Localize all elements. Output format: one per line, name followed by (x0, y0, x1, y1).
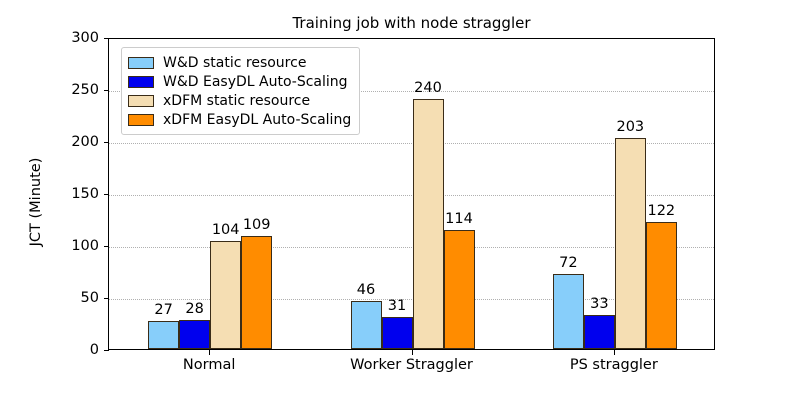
bar (413, 99, 444, 349)
x-tick-label: Worker Straggler (350, 357, 473, 373)
legend-swatch-icon (128, 76, 154, 88)
y-tick-mark (104, 350, 109, 351)
bar (584, 315, 615, 349)
plot-area: 272810410946312401147233203122 W&D stati… (108, 38, 715, 350)
x-tick-label: PS straggler (570, 357, 658, 373)
y-tick-label: 200 (39, 134, 99, 150)
y-tick-label: 250 (39, 82, 99, 98)
bar-value-label: 33 (590, 296, 608, 312)
bar (646, 222, 677, 349)
legend-label: W&D EasyDL Auto-Scaling (163, 74, 348, 90)
bar-value-label: 72 (559, 255, 577, 271)
bar (553, 274, 584, 349)
legend-swatch-icon (128, 95, 154, 107)
chart-figure: Training job with node straggler JCT (Mi… (0, 0, 800, 400)
bar (444, 230, 475, 349)
x-tick-mark (614, 350, 615, 355)
bar-value-label: 104 (212, 222, 240, 238)
bar (382, 317, 413, 349)
bar-value-label: 109 (243, 217, 271, 233)
legend-swatch-icon (128, 57, 154, 69)
legend-item[interactable]: W&D static resource (128, 53, 351, 72)
y-tick-label: 0 (39, 342, 99, 358)
x-tick-label: Normal (183, 357, 235, 373)
bar-value-label: 114 (445, 211, 473, 227)
x-tick-mark (209, 350, 210, 355)
legend-label: W&D static resource (163, 55, 306, 71)
y-tick-label: 300 (39, 30, 99, 46)
bar-value-label: 31 (388, 298, 406, 314)
y-tick-label: 50 (39, 290, 99, 306)
bar (241, 236, 272, 349)
chart-legend[interactable]: W&D static resourceW&D EasyDL Auto-Scali… (121, 47, 360, 135)
bar-value-label: 203 (616, 119, 644, 135)
bar-value-label: 240 (414, 80, 442, 96)
bar (148, 321, 179, 349)
legend-label: xDFM static resource (163, 93, 310, 109)
bar-value-label: 28 (185, 301, 203, 317)
legend-item[interactable]: W&D EasyDL Auto-Scaling (128, 72, 351, 91)
bar (210, 241, 241, 349)
chart-title: Training job with node straggler (108, 14, 715, 32)
legend-item[interactable]: xDFM static resource (128, 91, 351, 110)
legend-label: xDFM EasyDL Auto-Scaling (163, 112, 351, 128)
bar-value-label: 27 (154, 302, 172, 318)
bar (351, 301, 382, 349)
x-tick-mark (412, 350, 413, 355)
legend-item[interactable]: xDFM EasyDL Auto-Scaling (128, 110, 351, 129)
bar-value-label: 122 (647, 203, 675, 219)
y-tick-label: 150 (39, 186, 99, 202)
bar-value-label: 46 (357, 282, 375, 298)
bar (615, 138, 646, 349)
bar (179, 320, 210, 349)
legend-swatch-icon (128, 114, 154, 126)
y-tick-label: 100 (39, 238, 99, 254)
